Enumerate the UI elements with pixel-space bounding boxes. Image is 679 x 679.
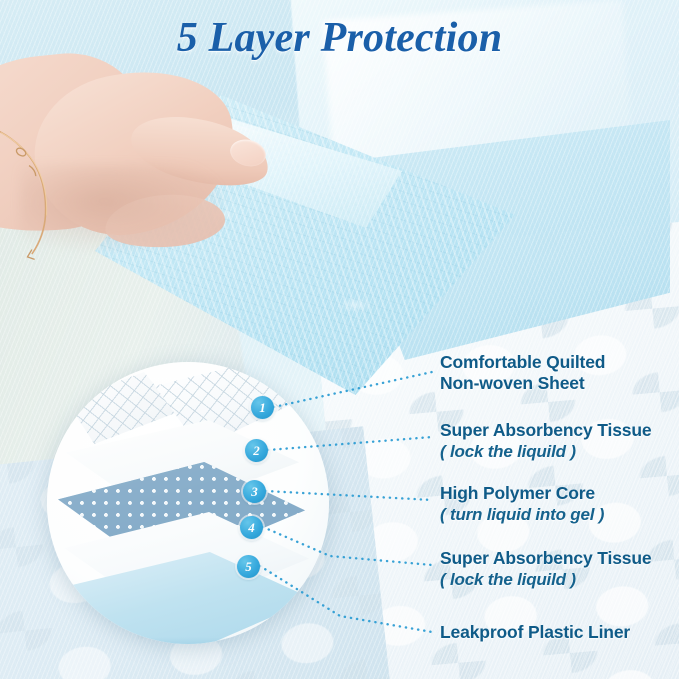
layer-label-3: High Polymer Core ( turn liquid into gel… [440,483,604,525]
layer-label-4-title: Super Absorbency Tissue [440,548,651,568]
page-title: 5 Layer Protection [0,14,679,62]
hand-holding-pad [0,45,280,295]
layer-label-1-line2: Non-woven Sheet [440,373,585,393]
layer-label-2-title: Super Absorbency Tissue [440,420,651,440]
layer-label-2-sub: ( lock the liquild ) [440,441,651,462]
gold-chain-bracelet [0,120,83,265]
layer-label-2: Super Absorbency Tissue ( lock the liqui… [440,420,651,462]
layer-label-1-line1: Comfortable Quilted [440,352,605,372]
layer-label-3-sub: ( turn liquid into gel ) [440,504,604,525]
layer-label-4-sub: ( lock the liquild ) [440,569,651,590]
layer-marker-4: 4 [240,516,263,539]
layer-label-3-title: High Polymer Core [440,483,595,503]
layer-marker-3: 3 [243,480,266,503]
layer-label-5: Leakproof Plastic Liner [440,622,630,643]
layer-label-4: Super Absorbency Tissue ( lock the liqui… [440,548,651,590]
layer-stack-inset [47,362,329,644]
product-infographic: 5 Layer Protection 1 2 3 4 5 Comfortabl [0,0,679,679]
layer-marker-2: 2 [245,439,268,462]
layer-label-5-title: Leakproof Plastic Liner [440,622,630,642]
layer-marker-1: 1 [251,396,274,419]
layer-marker-5: 5 [237,555,260,578]
layer-label-1: Comfortable Quilted Non-woven Sheet [440,352,605,394]
